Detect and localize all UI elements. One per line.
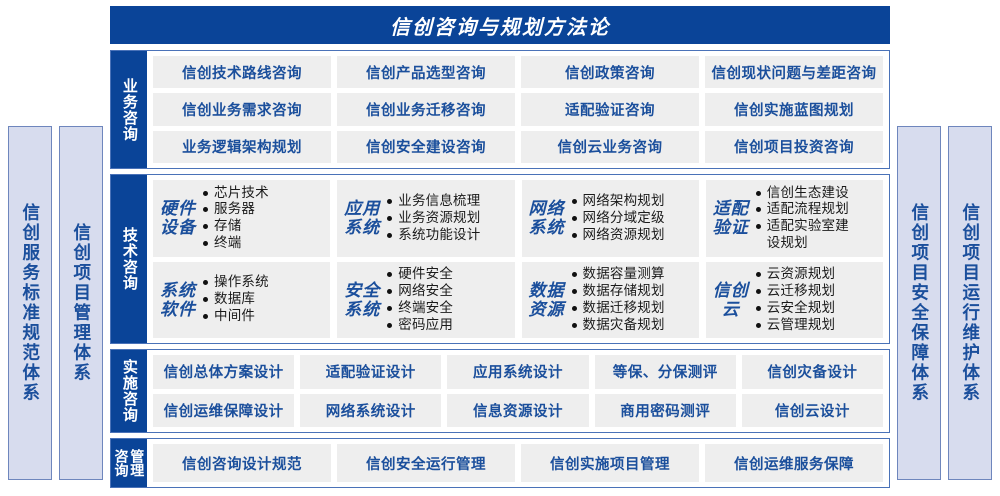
tech-card-item: 数据库 [202, 291, 323, 308]
tech-card-list: 业务信息梳理 业务资源规划 系统功能设计 [386, 193, 507, 244]
tech-card-list: 信创生态建设 适配流程规划 适配实验室建 设规划 [755, 185, 876, 253]
tech-card-list: 网络架构规划 网络分域定级 网络资源规划 [571, 193, 692, 244]
band-label-consulting-management: 咨询 管理 [111, 439, 147, 487]
chip-item[interactable]: 信创云业务咨询 [521, 131, 699, 163]
tech-card-item: 中间件 [202, 308, 323, 325]
chip-item[interactable]: 信创运维服务保障 [705, 444, 883, 482]
chip-item[interactable]: 信息资源设计 [447, 394, 588, 428]
tech-card-item: 业务资源规划 [386, 210, 507, 227]
tech-card-row: 系统 软件 操作系统 数据库 中间件 安全 系统 硬件安全 网络安全 [153, 262, 883, 339]
tech-card-item: 网络安全 [386, 283, 507, 300]
chip-item[interactable]: 信创技术路线咨询 [153, 56, 331, 88]
chip-item[interactable]: 信创项目投资咨询 [705, 131, 883, 163]
band-label-management-text: 管理 [130, 449, 145, 477]
tech-card-item: 存储 [202, 218, 323, 235]
tech-card-title: 硬件 设备 [160, 199, 196, 237]
chip-item[interactable]: 信创云设计 [742, 394, 883, 428]
chip-item[interactable]: 等保、分保测评 [595, 355, 736, 389]
tech-card-item: 芯片技术 [202, 185, 323, 202]
tech-card-list: 数据容量测算 数据存储规划 数据迁移规划 数据灾备规划 [571, 266, 692, 334]
pillar-left-project-management-label: 信创项目管理体系 [72, 223, 90, 383]
band-business-consulting: 业务咨询 信创技术路线咨询 信创产品选型咨询 信创政策咨询 信创现状问题与差距咨… [110, 50, 890, 169]
chip-item[interactable]: 信创实施项目管理 [521, 444, 699, 482]
tech-card-item: 数据灾备规划 [571, 317, 692, 334]
tech-card-list: 硬件安全 网络安全 终端安全 密码应用 [386, 266, 507, 334]
chip-row: 信创技术路线咨询 信创产品选型咨询 信创政策咨询 信创现状问题与差距咨询 [153, 56, 883, 88]
chip-row: 信创总体方案设计 适配验证设计 应用系统设计 等保、分保测评 信创灾备设计 [153, 355, 883, 389]
band-technical-consulting: 技术咨询 硬件 设备 芯片技术 服务器 存储 终端 [110, 174, 890, 344]
tech-card-security-system[interactable]: 安全 系统 硬件安全 网络安全 终端安全 密码应用 [337, 262, 514, 339]
band-label-business: 业务咨询 [111, 51, 147, 168]
diagram-root: 信创服务标准规范体系 信创项目管理体系 信创咨询与规划方法论 业务咨询 信创技术… [0, 0, 1000, 496]
tech-card-item: 网络资源规划 [571, 227, 692, 244]
chip-item[interactable]: 信创咨询设计规范 [153, 444, 331, 482]
tech-card-item: 云资源规划 [755, 266, 876, 283]
tech-card-item: 数据存储规划 [571, 283, 692, 300]
chip-row: 信创业务需求咨询 信创业务迁移咨询 适配验证咨询 信创实施蓝图规划 [153, 93, 883, 125]
tech-card-item: 适配实验室建 [755, 218, 876, 235]
center-column: 信创咨询与规划方法论 业务咨询 信创技术路线咨询 信创产品选型咨询 信创政策咨询… [110, 6, 890, 488]
band-label-implementation-text: 实施咨询 [121, 359, 137, 423]
chip-item[interactable]: 信创总体方案设计 [153, 355, 294, 389]
chip-item[interactable]: 适配验证设计 [300, 355, 441, 389]
tech-card-item-continuation: 设规划 [755, 235, 876, 252]
pillar-right-operation-maintenance: 信创项目运行维护体系 [948, 126, 992, 480]
band-stack: 业务咨询 信创技术路线咨询 信创产品选型咨询 信创政策咨询 信创现状问题与差距咨… [110, 50, 890, 488]
tech-card-item: 适配流程规划 [755, 201, 876, 218]
pillar-right-security-guarantee-label: 信创项目安全保障体系 [910, 203, 928, 403]
chip-item[interactable]: 应用系统设计 [447, 355, 588, 389]
tech-card-item: 终端 [202, 235, 323, 252]
chip-item[interactable]: 商用密码测评 [595, 394, 736, 428]
tech-card-network-system[interactable]: 网络 系统 网络架构规划 网络分域定级 网络资源规划 [522, 180, 699, 257]
tech-card-item: 网络分域定级 [571, 210, 692, 227]
tech-card-system-software[interactable]: 系统 软件 操作系统 数据库 中间件 [153, 262, 330, 339]
band-consulting-management: 咨询 管理 信创咨询设计规范 信创安全运行管理 信创实施项目管理 信创运维服务保… [110, 438, 890, 488]
chip-item[interactable]: 网络系统设计 [300, 394, 441, 428]
chip-item[interactable]: 业务逻辑架构规划 [153, 131, 331, 163]
chip-item[interactable]: 适配验证咨询 [521, 93, 699, 125]
band-body-technical: 硬件 设备 芯片技术 服务器 存储 终端 应用 系统 业务信息梳理 [147, 175, 889, 343]
tech-card-item: 云安全规划 [755, 300, 876, 317]
pillar-left-service-standard: 信创服务标准规范体系 [8, 126, 52, 480]
chip-item[interactable]: 信创运维保障设计 [153, 394, 294, 428]
tech-card-item: 网络架构规划 [571, 193, 692, 210]
chip-item[interactable]: 信创安全建设咨询 [337, 131, 515, 163]
page-title-text: 信创咨询与规划方法论 [390, 11, 610, 40]
tech-card-title: 系统 软件 [160, 281, 196, 319]
tech-card-item: 密码应用 [386, 317, 507, 334]
tech-card-data-resource[interactable]: 数据 资源 数据容量测算 数据存储规划 数据迁移规划 数据灾备规划 [522, 262, 699, 339]
tech-card-item: 系统功能设计 [386, 227, 507, 244]
tech-card-item: 终端安全 [386, 300, 507, 317]
tech-card-title: 信创 云 [713, 281, 749, 319]
chip-item[interactable]: 信创产品选型咨询 [337, 56, 515, 88]
chip-item[interactable]: 信创实施蓝图规划 [705, 93, 883, 125]
chip-row: 业务逻辑架构规划 信创安全建设咨询 信创云业务咨询 信创项目投资咨询 [153, 131, 883, 163]
band-label-consulting-text: 咨询 [114, 449, 129, 477]
pillar-right-operation-maintenance-label: 信创项目运行维护体系 [961, 203, 979, 403]
band-label-business-text: 业务咨询 [121, 78, 137, 142]
tech-card-item: 云管理规划 [755, 317, 876, 334]
tech-card-row: 硬件 设备 芯片技术 服务器 存储 终端 应用 系统 业务信息梳理 [153, 180, 883, 257]
pillar-right-security-guarantee: 信创项目安全保障体系 [897, 126, 941, 480]
chip-row: 信创咨询设计规范 信创安全运行管理 信创实施项目管理 信创运维服务保障 [153, 444, 883, 482]
band-implementation-consulting: 实施咨询 信创总体方案设计 适配验证设计 应用系统设计 等保、分保测评 信创灾备… [110, 349, 890, 433]
tech-card-list: 芯片技术 服务器 存储 终端 [202, 185, 323, 253]
chip-row: 信创运维保障设计 网络系统设计 信息资源设计 商用密码测评 信创云设计 [153, 394, 883, 428]
tech-card-title: 安全 系统 [344, 281, 380, 319]
tech-card-item: 业务信息梳理 [386, 193, 507, 210]
band-body-business: 信创技术路线咨询 信创产品选型咨询 信创政策咨询 信创现状问题与差距咨询 信创业… [147, 51, 889, 168]
tech-card-hardware[interactable]: 硬件 设备 芯片技术 服务器 存储 终端 [153, 180, 330, 257]
pillar-left-project-management: 信创项目管理体系 [59, 126, 103, 480]
chip-item[interactable]: 信创业务迁移咨询 [337, 93, 515, 125]
chip-item[interactable]: 信创现状问题与差距咨询 [705, 56, 883, 88]
tech-card-item: 服务器 [202, 201, 323, 218]
band-label-implementation: 实施咨询 [111, 350, 147, 432]
chip-item[interactable]: 信创业务需求咨询 [153, 93, 331, 125]
band-body-implementation: 信创总体方案设计 适配验证设计 应用系统设计 等保、分保测评 信创灾备设计 信创… [147, 350, 889, 432]
tech-card-title: 网络 系统 [529, 199, 565, 237]
tech-card-item: 数据容量测算 [571, 266, 692, 283]
tech-card-title: 应用 系统 [344, 199, 380, 237]
tech-card-item: 数据迁移规划 [571, 300, 692, 317]
chip-item[interactable]: 信创政策咨询 [521, 56, 699, 88]
tech-card-list: 云资源规划 云迁移规划 云安全规划 云管理规划 [755, 266, 876, 334]
tech-card-xinchuang-cloud[interactable]: 信创 云 云资源规划 云迁移规划 云安全规划 云管理规划 [706, 262, 883, 339]
band-label-technical-text: 技术咨询 [121, 227, 137, 291]
page-title: 信创咨询与规划方法论 [110, 6, 890, 44]
tech-card-item: 信创生态建设 [755, 185, 876, 202]
tech-card-item: 云迁移规划 [755, 283, 876, 300]
tech-card-item: 操作系统 [202, 274, 323, 291]
tech-card-title: 数据 资源 [529, 281, 565, 319]
chip-item[interactable]: 信创灾备设计 [742, 355, 883, 389]
band-body-consulting-management: 信创咨询设计规范 信创安全运行管理 信创实施项目管理 信创运维服务保障 [147, 439, 889, 487]
chip-item[interactable]: 信创安全运行管理 [337, 444, 515, 482]
band-label-technical: 技术咨询 [111, 175, 147, 343]
tech-card-list: 操作系统 数据库 中间件 [202, 274, 323, 325]
tech-card-application-system[interactable]: 应用 系统 业务信息梳理 业务资源规划 系统功能设计 [337, 180, 514, 257]
tech-card-adaptation-verification[interactable]: 适配 验证 信创生态建设 适配流程规划 适配实验室建 设规划 [706, 180, 883, 257]
tech-card-item: 硬件安全 [386, 266, 507, 283]
tech-card-title: 适配 验证 [713, 199, 749, 237]
pillar-left-service-standard-label: 信创服务标准规范体系 [21, 203, 39, 403]
